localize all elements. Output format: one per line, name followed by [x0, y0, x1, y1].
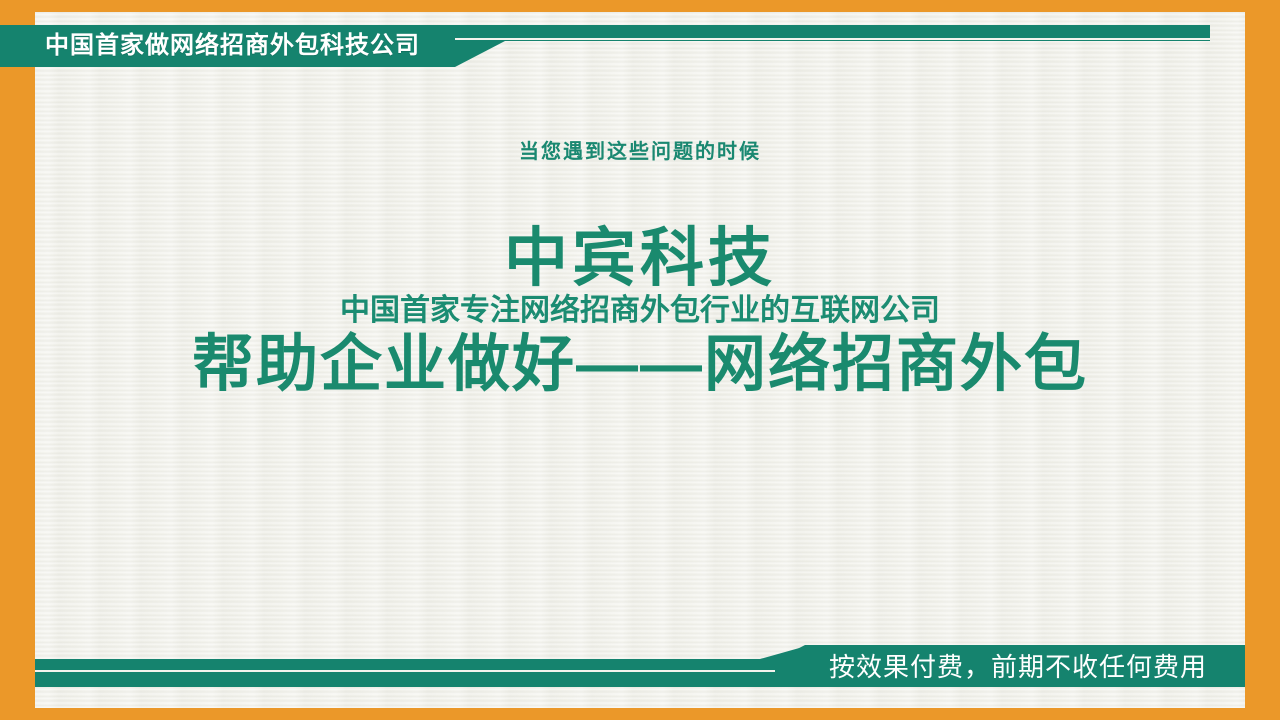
- slide-content: 当您遇到这些问题的时候 中宾科技 中国首家专注网络招商外包行业的互联网公司 帮助…: [35, 140, 1245, 399]
- content-kicker: 当您遇到这些问题的时候: [35, 140, 1245, 164]
- company-tagline: 中国首家专注网络招商外包行业的互联网公司: [35, 294, 1245, 327]
- slide-root: 中国首家做网络招商外包科技公司 当您遇到这些问题的时候 中宾科技 中国首家专注网…: [0, 0, 1280, 720]
- main-headline: 帮助企业做好——网络招商外包: [35, 331, 1245, 399]
- company-brand-title: 中宾科技: [35, 226, 1245, 290]
